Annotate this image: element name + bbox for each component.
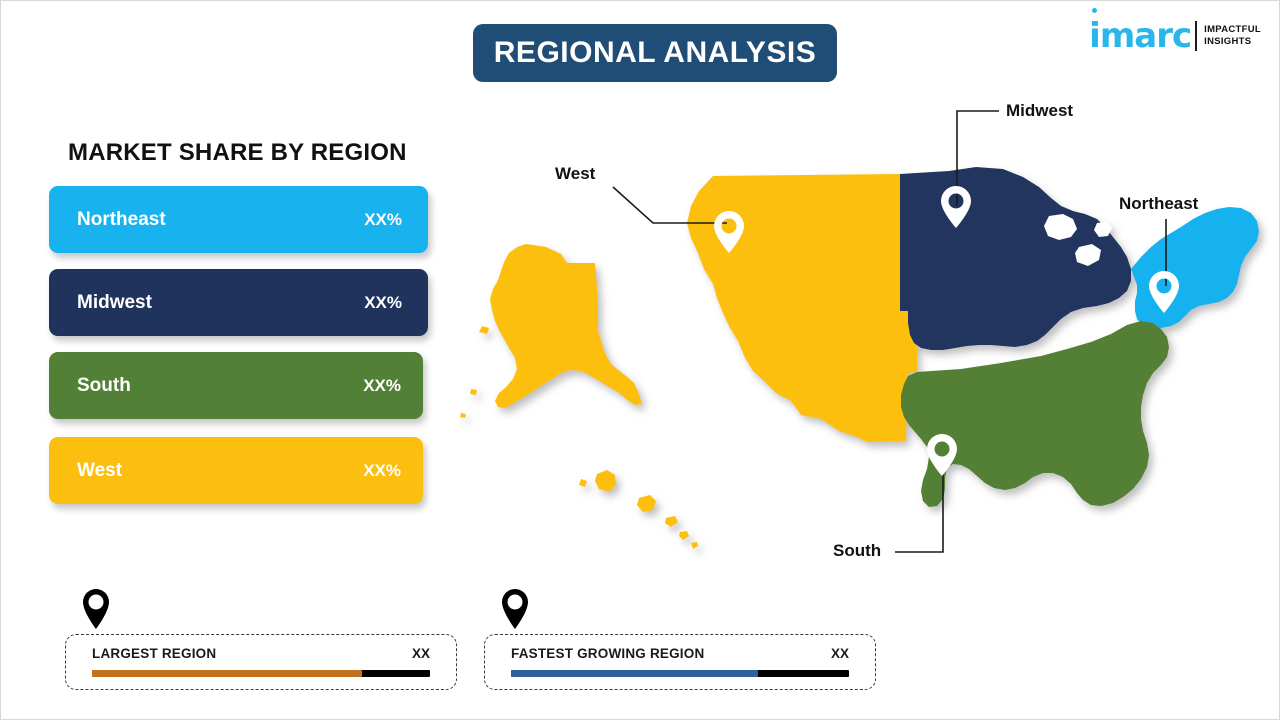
us-map-regions	[460, 167, 1259, 549]
logo-dot-icon	[1092, 8, 1097, 13]
share-bar-west[interactable]: West XX%	[49, 437, 423, 504]
leader-line-west	[613, 187, 727, 223]
fastest-growing-region-label: FASTEST GROWING REGION	[511, 646, 704, 661]
page-title: REGIONAL ANALYSIS	[494, 36, 816, 70]
map-great-lakes	[1044, 214, 1112, 266]
map-label-west: West	[555, 164, 595, 184]
largest-region-card[interactable]: LARGEST REGION XX	[65, 634, 457, 690]
northeast-pin-icon[interactable]	[1149, 271, 1179, 313]
largest-region-pin-icon	[79, 587, 113, 631]
map-region-hawaii[interactable]	[579, 470, 698, 549]
map-label-midwest: Midwest	[1006, 101, 1073, 121]
fastest-growing-region-value: XX	[831, 646, 849, 661]
share-bar-midwest[interactable]: Midwest XX%	[49, 269, 428, 336]
map-region-northeast[interactable]	[1131, 207, 1259, 328]
share-bar-value: XX%	[363, 461, 401, 481]
leader-line-south	[895, 456, 943, 552]
map-region-midwest[interactable]	[900, 167, 1131, 350]
map-leader-lines	[613, 111, 1166, 552]
share-bar-value: XX%	[363, 376, 401, 396]
midwest-pin-icon[interactable]	[941, 186, 971, 228]
logo-tagline-line2: INSIGHTS	[1204, 36, 1261, 48]
market-share-heading: MARKET SHARE BY REGION	[68, 139, 407, 167]
map-pins	[714, 186, 1179, 476]
logo-wordmark: imarc	[1089, 19, 1191, 53]
share-bar-south[interactable]: South XX%	[49, 352, 423, 419]
fastest-growing-region-progress-track	[511, 670, 849, 677]
west-pin-icon[interactable]	[714, 211, 744, 253]
map-region-alaska[interactable]	[490, 244, 642, 408]
share-bar-label: South	[77, 375, 131, 397]
leader-line-midwest	[957, 111, 999, 206]
logo-tagline-line1: IMPACTFUL	[1204, 24, 1261, 36]
infographic-canvas: REGIONAL ANALYSIS imarc IMPACTFUL INSIGH…	[0, 0, 1280, 720]
logo-tagline: IMPACTFUL INSIGHTS	[1204, 24, 1261, 48]
largest-region-value: XX	[412, 646, 430, 661]
south-pin-icon[interactable]	[927, 434, 957, 476]
share-bar-value: XX%	[364, 210, 406, 230]
largest-region-label: LARGEST REGION	[92, 646, 216, 661]
map-region-west[interactable]	[687, 174, 917, 442]
share-bar-label: Midwest	[77, 292, 152, 314]
map-label-northeast: Northeast	[1119, 194, 1198, 214]
fastest-growing-region-card[interactable]: FASTEST GROWING REGION XX	[484, 634, 876, 690]
share-bar-northeast[interactable]: Northeast XX%	[49, 186, 428, 253]
fastest-growing-region-pin-icon	[498, 587, 532, 631]
largest-region-progress-track	[92, 670, 430, 677]
map-region-south[interactable]	[901, 321, 1169, 507]
map-region-aleutians	[460, 326, 489, 418]
page-title-banner: REGIONAL ANALYSIS	[473, 24, 837, 82]
share-bar-value: XX%	[364, 293, 406, 313]
largest-region-progress-fill	[92, 670, 362, 677]
imarc-logo: imarc IMPACTFUL INSIGHTS	[1089, 15, 1261, 57]
map-label-south: South	[833, 541, 881, 561]
fastest-growing-region-progress-fill	[511, 670, 758, 677]
logo-divider	[1195, 21, 1197, 51]
share-bar-label: Northeast	[77, 209, 166, 231]
share-bar-label: West	[77, 460, 122, 482]
